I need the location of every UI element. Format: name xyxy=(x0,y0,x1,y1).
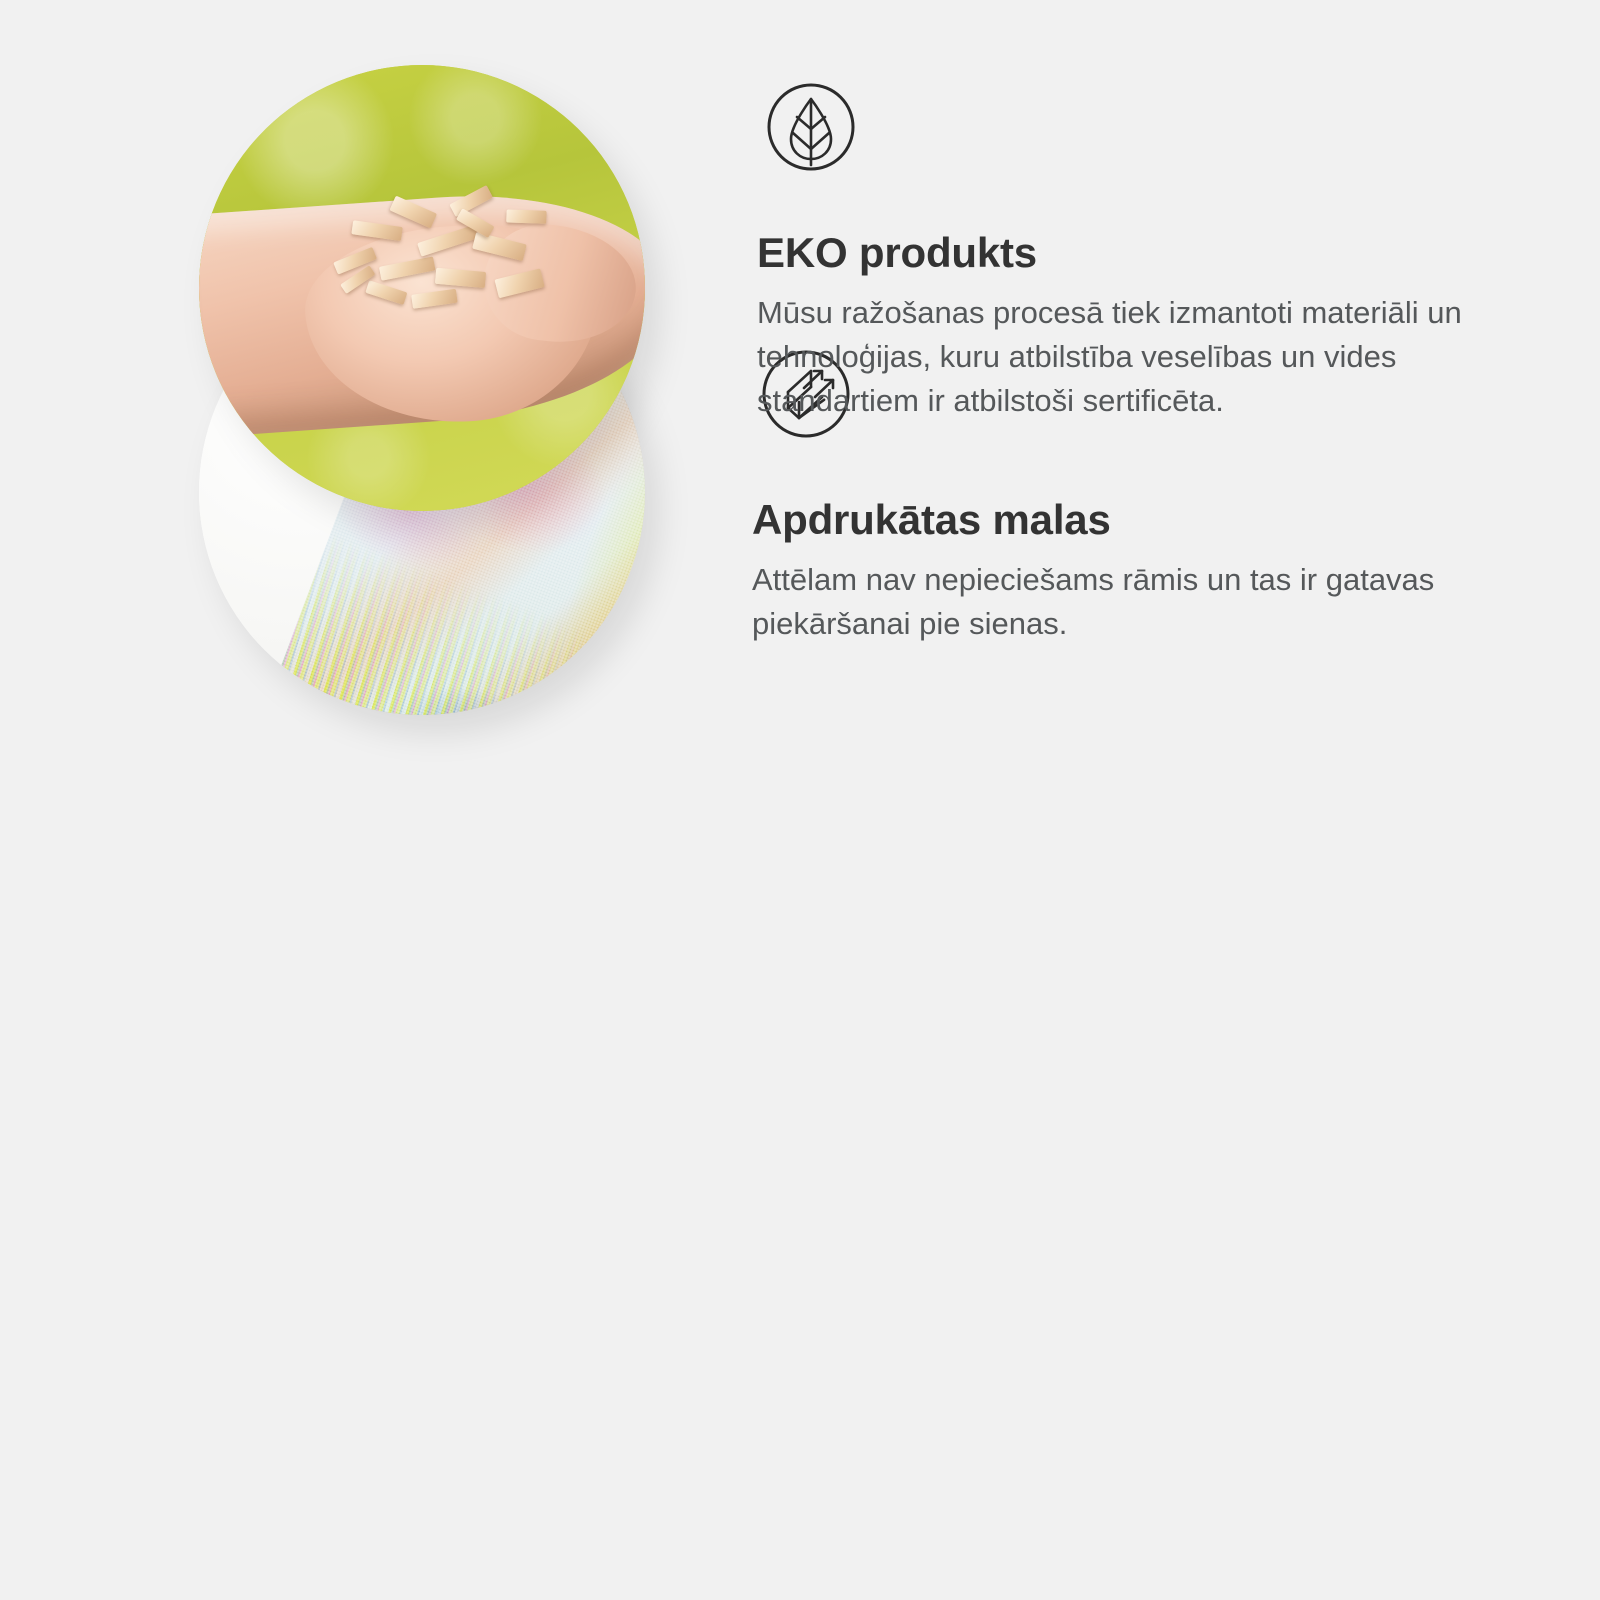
eco-text-block: EKO produkts Mūsu ražošanas procesā tiek… xyxy=(757,73,1487,423)
eco-icon-row xyxy=(757,73,1487,181)
leaf-icon xyxy=(757,73,865,181)
feature-title-eco-product: EKO produkts xyxy=(757,229,1487,277)
feature-title-printed-edges: Apdrukātas malas xyxy=(752,496,1472,544)
feature-highlights-page: Apdrukātas malas Attēlam nav nepieciešam… xyxy=(0,0,1600,1600)
feature-description-eco-product: Mūsu ražošanas procesā tiek izmantoti ma… xyxy=(757,291,1487,423)
feature-eco-product: EKO produkts Mūsu ražošanas procesā tiek… xyxy=(0,800,1600,1600)
feature-description-printed-edges: Attēlam nav nepieciešams rāmis un tas ir… xyxy=(752,558,1472,646)
wood-chips-pile xyxy=(315,177,574,337)
hands-with-woodchips-photo xyxy=(199,65,645,511)
